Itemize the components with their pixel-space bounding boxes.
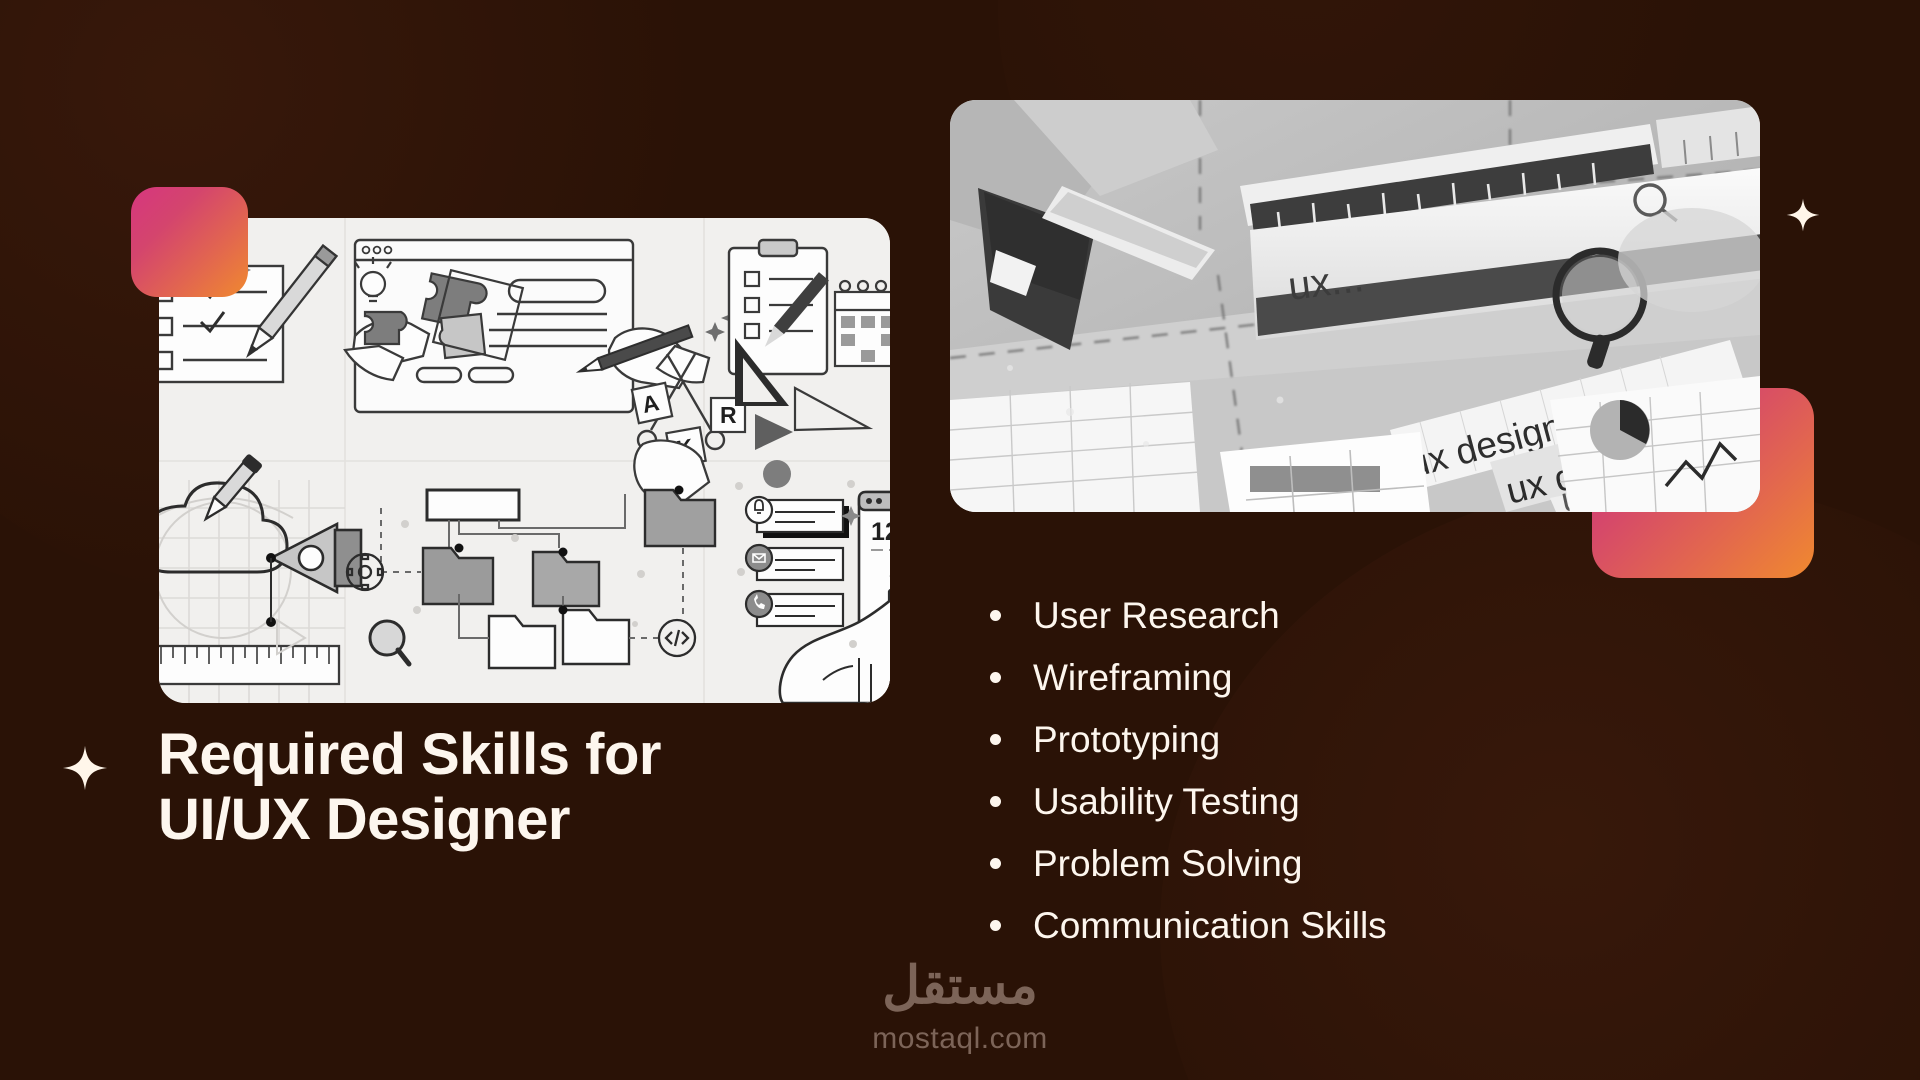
phone-clock: 12:29	[871, 518, 890, 546]
watermark-arabic-logo: مستقل	[0, 960, 1920, 1012]
gradient-square-top-left	[131, 187, 248, 297]
sparkle-icon	[1786, 198, 1820, 232]
slide-canvas: ux... ux designer	[0, 0, 1920, 1080]
list-item: Usability Testing	[990, 770, 1387, 832]
sparkle-icon	[62, 745, 108, 791]
bullet-icon	[990, 796, 1001, 807]
ui-ux-design-process-illustration: A R K	[159, 218, 890, 703]
list-item: Prototyping	[990, 708, 1387, 770]
page-title-line-1: Required Skills for	[158, 723, 858, 788]
bullet-icon	[990, 734, 1001, 745]
list-item-label: Prototyping	[1033, 721, 1220, 758]
ui-ux-illustration-card: A R K	[159, 218, 890, 703]
ux-designer-photo-card: ux... ux designer	[950, 100, 1760, 512]
photo-search-text: ux...	[1286, 256, 1366, 309]
list-item-label: Wireframing	[1033, 659, 1232, 696]
list-item-label: User Research	[1033, 597, 1280, 634]
list-item: Wireframing	[990, 646, 1387, 708]
list-item-label: Usability Testing	[1033, 783, 1300, 820]
list-item: Communication Skills	[990, 894, 1387, 956]
skills-list: User Research Wireframing Prototyping Us…	[990, 584, 1387, 956]
letter-tile-r: R	[720, 402, 737, 428]
watermark-domain: mostaql.com	[0, 1024, 1920, 1054]
bullet-icon	[990, 920, 1001, 931]
mostaql-watermark: مستقل mostaql.com	[0, 960, 1920, 1054]
bullet-icon	[990, 858, 1001, 869]
ux-designer-desk-photo: ux... ux designer	[950, 100, 1760, 512]
bullet-icon	[990, 672, 1001, 683]
list-item-label: Communication Skills	[1033, 907, 1387, 944]
bullet-icon	[990, 610, 1001, 621]
page-title: Required Skills for UI/UX Designer	[158, 723, 858, 853]
page-title-line-2: UI/UX Designer	[158, 788, 858, 853]
list-item: Problem Solving	[990, 832, 1387, 894]
list-item-label: Problem Solving	[1033, 845, 1302, 882]
list-item: User Research	[990, 584, 1387, 646]
